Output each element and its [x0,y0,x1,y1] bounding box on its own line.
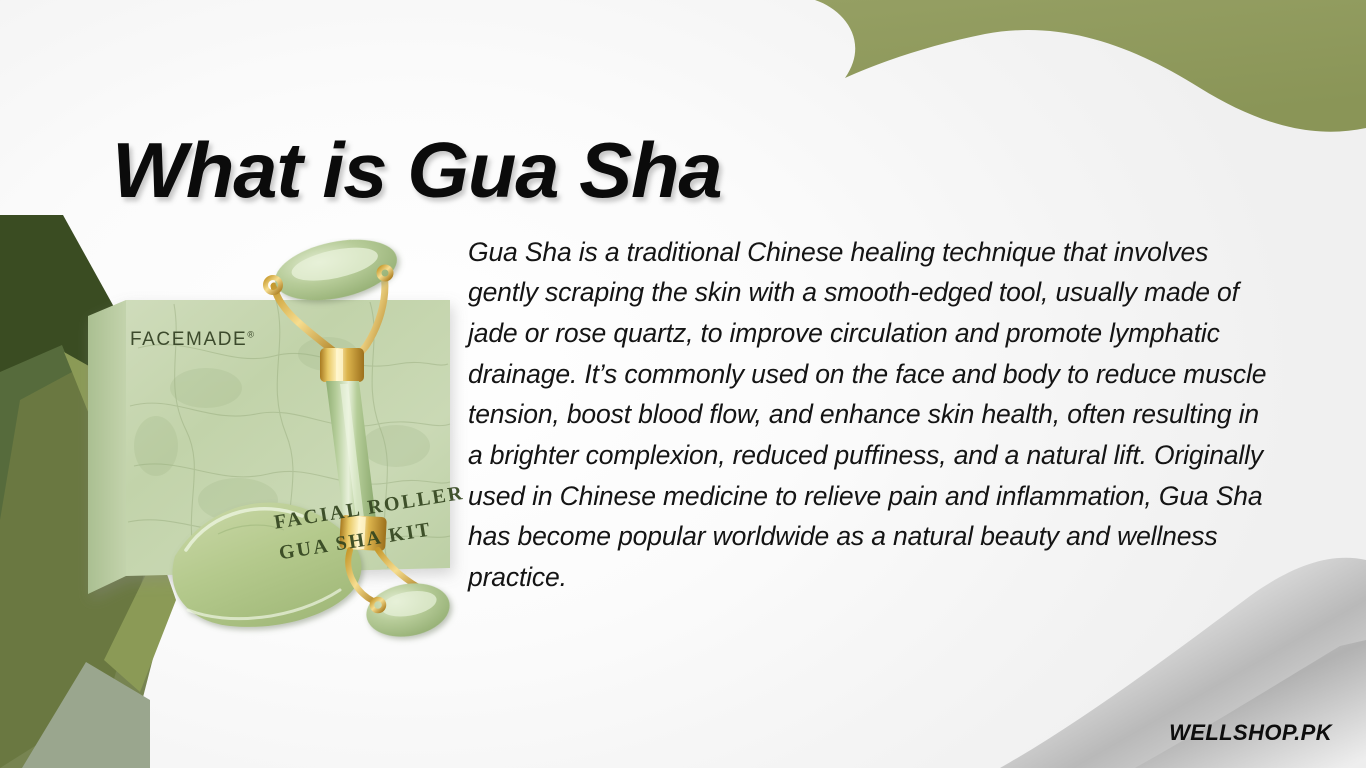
brand-name: FACEMADE [130,329,247,350]
slide-canvas: FACEMADE® FACIAL ROLLER GUA SHA KIT What… [0,0,1366,768]
body-paragraph: Gua Sha is a traditional Chinese healing… [468,232,1268,598]
product-image [78,238,468,650]
product-brand-label: FACEMADE® [130,329,254,351]
page-title: What is Gua Sha [112,130,721,212]
product-illustration [78,238,468,650]
top-right-wave-shape [815,0,1366,132]
registered-mark: ® [247,330,254,340]
site-watermark: WELLSHOP.PK [1169,720,1332,746]
